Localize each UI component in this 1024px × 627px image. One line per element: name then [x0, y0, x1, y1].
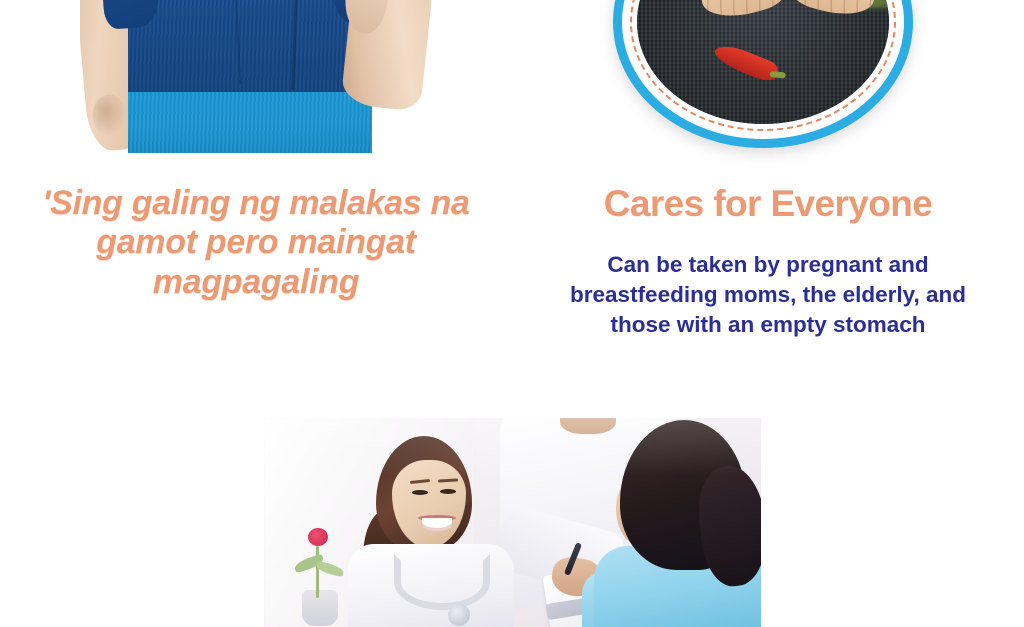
- rose-bloom: [308, 528, 328, 546]
- man-right-arm: [340, 0, 435, 112]
- left-heading: 'Sing galing ng malakas na gamot pero ma…: [16, 184, 496, 302]
- man-shirt-upper: [128, 0, 364, 98]
- man-torso-photo: [80, 0, 440, 153]
- man-photo-scene: [80, 0, 440, 153]
- doctor-consultation-photo: [264, 418, 761, 627]
- infographic-page: 'Sing galing ng malakas na gamot pero ma…: [0, 0, 1024, 627]
- pregnant-belly-badge: [613, 0, 913, 148]
- female-doctor-smile: [422, 518, 452, 531]
- flower-vase: [302, 590, 338, 626]
- badge-photo-area: [637, 0, 889, 124]
- left-column: 'Sing galing ng malakas na gamot pero ma…: [0, 0, 512, 400]
- female-doctor-eye-left: [412, 490, 428, 495]
- female-doctor-eye-right: [440, 489, 456, 494]
- badge-white-ring: [622, 0, 904, 139]
- man-shirt-lower: [128, 92, 372, 153]
- right-column: Cares for Everyone Can be taken by pregn…: [512, 0, 1024, 400]
- stethoscope-bell: [448, 604, 470, 626]
- right-heading: Cares for Everyone: [512, 184, 1024, 225]
- stethoscope-tubing: [394, 554, 490, 610]
- right-body-text: Can be taken by pregnant and breastfeedi…: [542, 250, 994, 340]
- shirt-fold-b: [233, 0, 242, 84]
- shirt-fold-a: [291, 0, 299, 90]
